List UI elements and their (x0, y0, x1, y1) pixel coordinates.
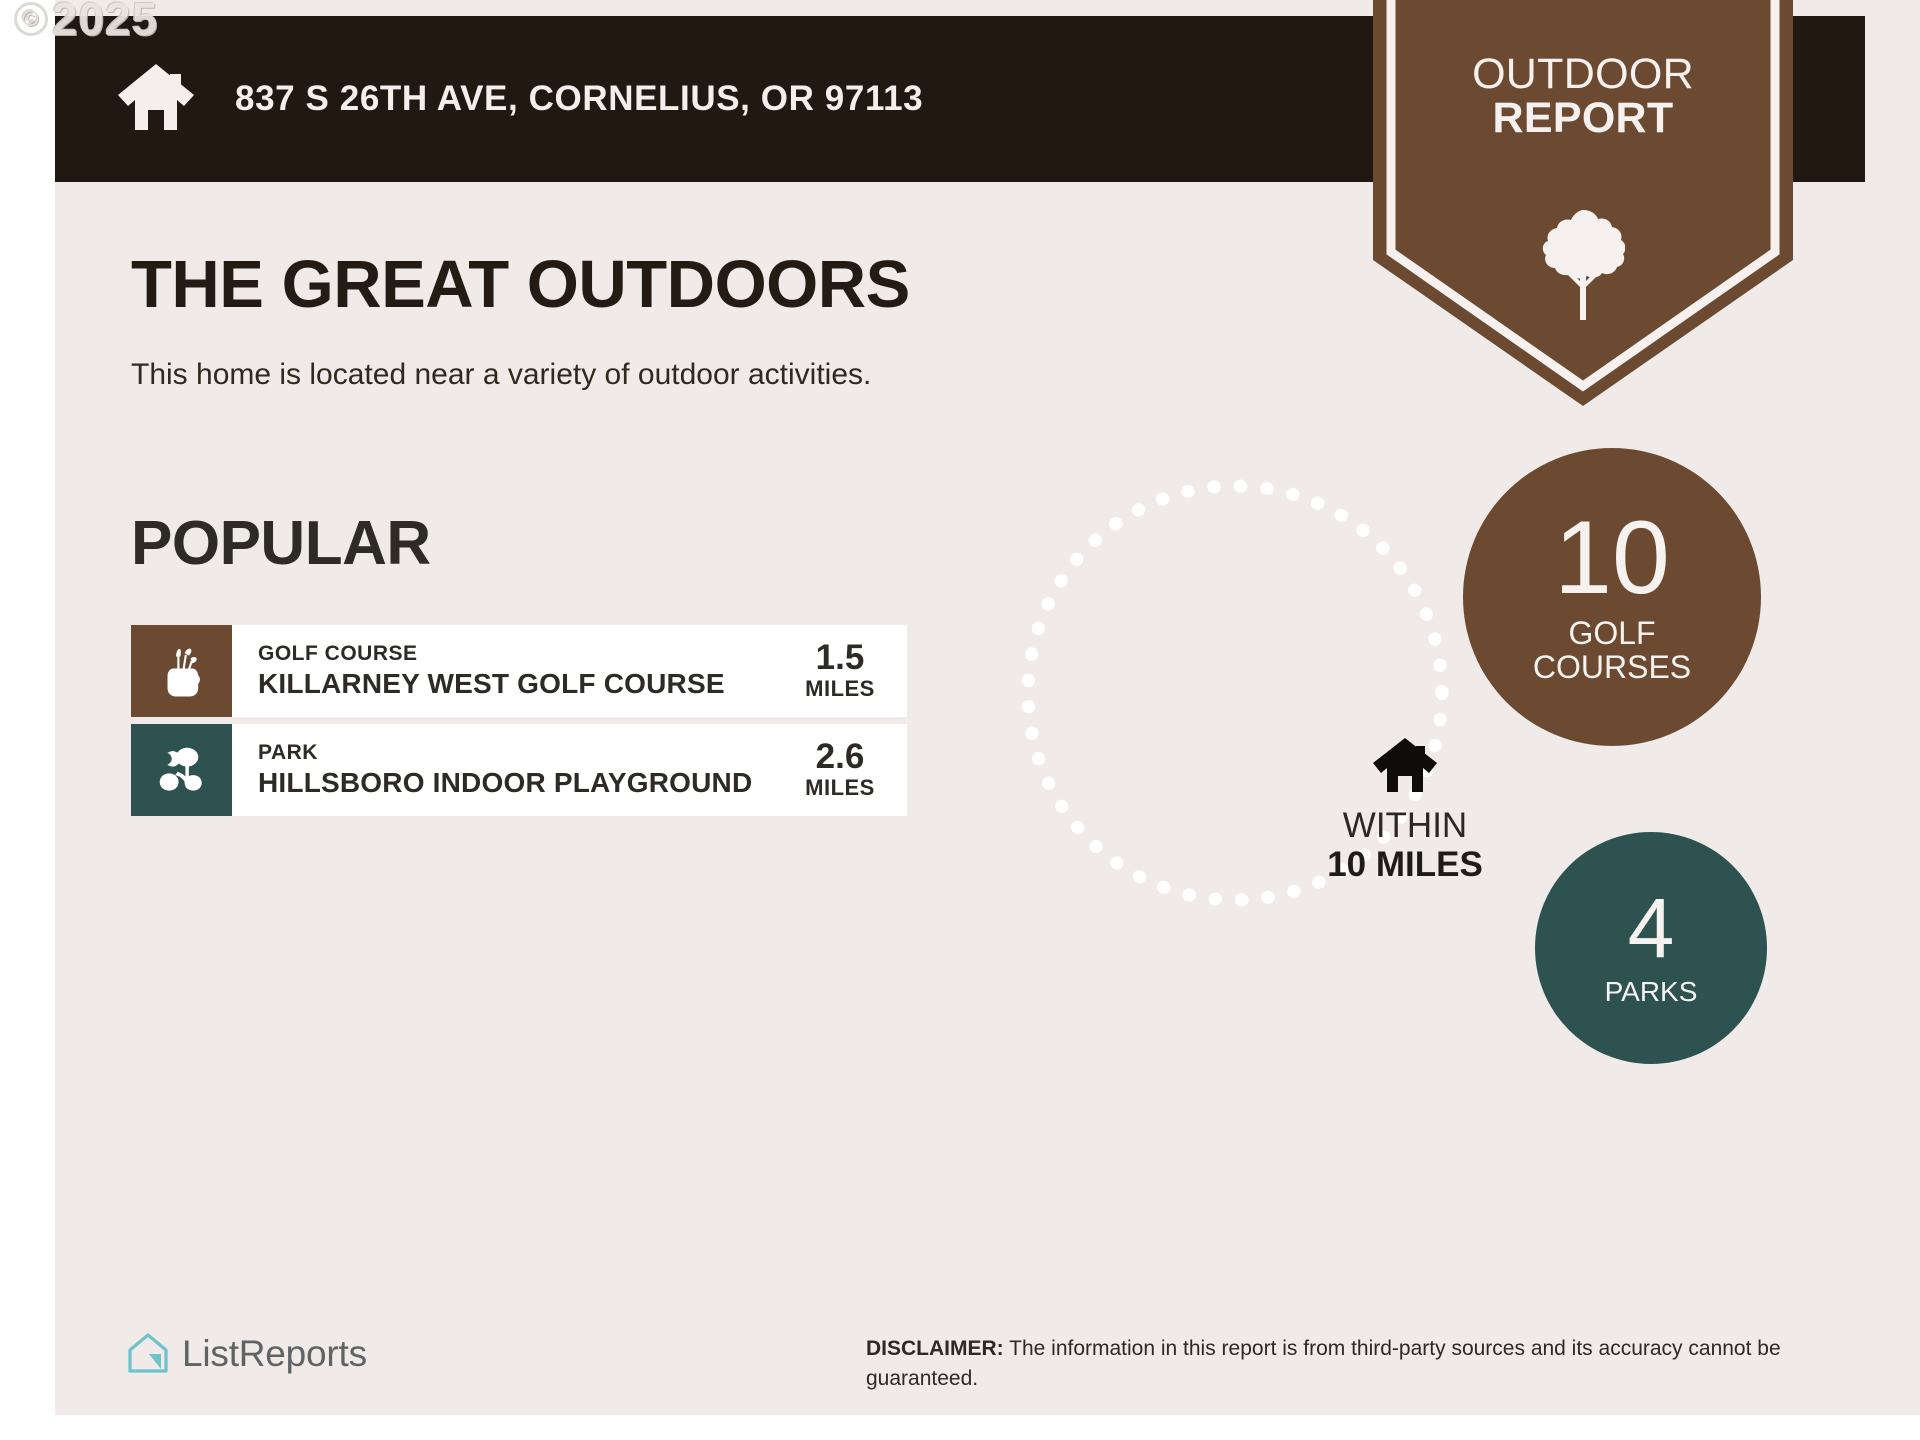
stat-label: PARKS (1605, 977, 1698, 1007)
tree-icon (1541, 206, 1625, 322)
list-item-text: GOLF COURSE KILLARNEY WEST GOLF COURSE (258, 642, 789, 699)
list-item-name: HILLSBORO INDOOR PLAYGROUND (258, 766, 789, 799)
popular-poi-list: GOLF COURSE KILLARNEY WEST GOLF COURSE 1… (131, 625, 907, 823)
within-line-1: WITHIN (1290, 806, 1520, 845)
list-item-body: PARK HILLSBORO INDOOR PLAYGROUND 2.6 MIL… (232, 724, 907, 816)
brand-name: ListReports (182, 1333, 367, 1375)
list-item-name: KILLARNEY WEST GOLF COURSE (258, 667, 789, 700)
distance-value: 2.6 (789, 739, 891, 776)
copyright-year: 2025 (52, 0, 158, 46)
stat-label-line-2: COURSES (1533, 650, 1691, 684)
stat-golf-courses: 10 GOLF COURSES (1463, 448, 1761, 746)
disclaimer-text: The information in this report is from t… (866, 1337, 1781, 1390)
list-item-distance: 2.6 MILES (789, 739, 901, 802)
copyright-symbol: © (14, 2, 48, 36)
stat-label-line-1: GOLF (1533, 616, 1691, 650)
home-icon (115, 62, 197, 132)
copyright-watermark: © 2025 (14, 0, 158, 46)
list-item-body: GOLF COURSE KILLARNEY WEST GOLF COURSE 1… (232, 625, 907, 717)
page-title: THE GREAT OUTDOORS (131, 246, 910, 323)
within-radius-block: WITHIN 10 MILES (1290, 736, 1520, 884)
page-subtitle: This home is located near a variety of o… (131, 358, 871, 392)
list-item-text: PARK HILLSBORO INDOOR PLAYGROUND (258, 741, 789, 798)
property-address: 837 S 26TH AVE, CORNELIUS, OR 97113 (235, 79, 923, 119)
list-item[interactable]: GOLF COURSE KILLARNEY WEST GOLF COURSE 1… (131, 625, 907, 717)
outdoor-report-page: © 2025 837 S 26TH AVE, CORNELIUS, OR 971… (0, 0, 1920, 1440)
stat-value: 10 (1554, 509, 1670, 608)
listreports-house-icon (127, 1332, 169, 1376)
outdoor-report-banner: OUTDOOR REPORT (1373, 0, 1793, 406)
golf-bag-icon (131, 625, 232, 717)
disclaimer-label: DISCLAIMER: (866, 1337, 1004, 1360)
stat-label: GOLF COURSES (1533, 616, 1691, 684)
list-item-distance: 1.5 MILES (789, 640, 901, 703)
distance-unit: MILES (789, 775, 891, 801)
stat-value: 4 (1628, 889, 1675, 969)
home-icon (1371, 736, 1439, 794)
distance-value: 1.5 (789, 640, 891, 677)
stat-parks: 4 PARKS (1535, 832, 1767, 1064)
section-title-popular: POPULAR (131, 508, 431, 579)
banner-line-1: OUTDOOR (1373, 52, 1793, 96)
banner-line-2: REPORT (1373, 96, 1793, 140)
park-trees-icon (131, 724, 232, 816)
distance-unit: MILES (789, 676, 891, 702)
list-item[interactable]: PARK HILLSBORO INDOOR PLAYGROUND 2.6 MIL… (131, 724, 907, 816)
within-line-2: 10 MILES (1290, 845, 1520, 884)
listreports-brand[interactable]: ListReports (127, 1332, 367, 1376)
stat-label-line-1: PARKS (1605, 977, 1698, 1007)
banner-title: OUTDOOR REPORT (1373, 52, 1793, 141)
list-item-category: GOLF COURSE (258, 642, 789, 666)
list-item-category: PARK (258, 741, 789, 765)
disclaimer: DISCLAIMER: The information in this repo… (866, 1334, 1826, 1395)
